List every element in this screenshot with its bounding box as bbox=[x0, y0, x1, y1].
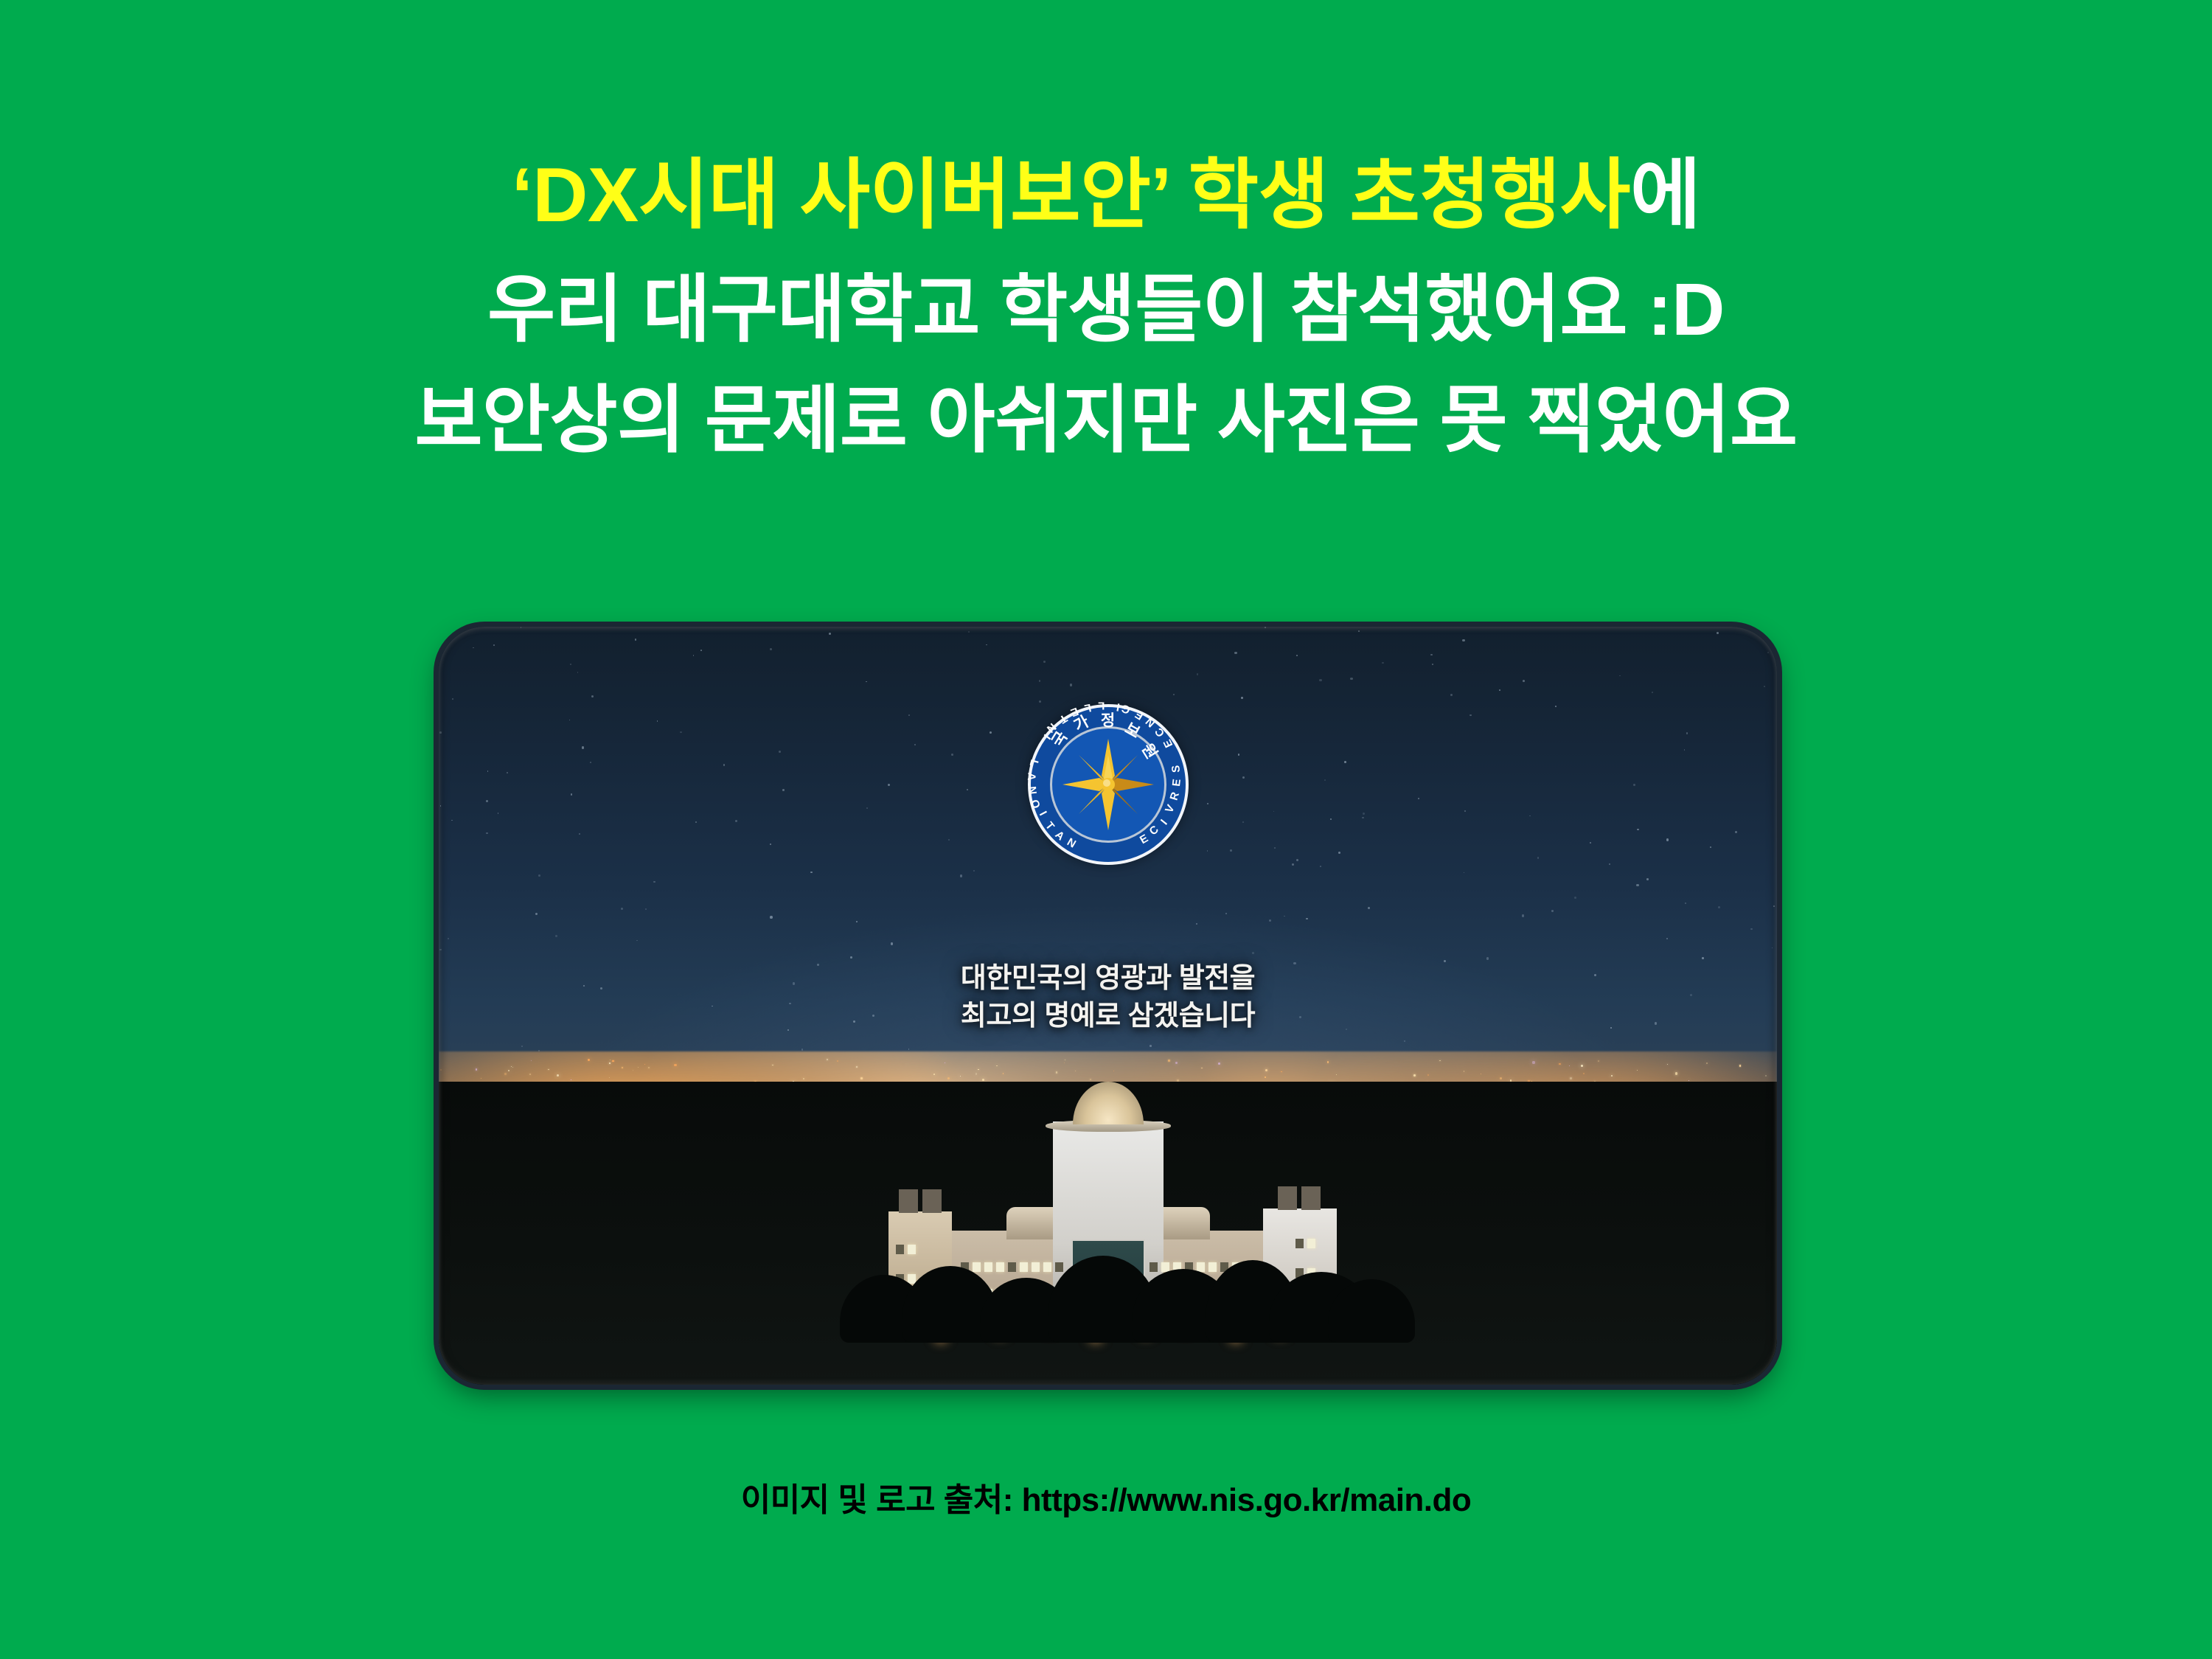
headline-line-1-accent: ‘DX시대 사이버보안’ 학생 초청행사 bbox=[512, 153, 1630, 238]
headline-block: ‘DX시대 사이버보안’ 학생 초청행사에 우리 대구대학교 학생들이 참석했어… bbox=[0, 146, 2212, 468]
headline-line-2: 우리 대구대학교 학생들이 참석했어요 :D bbox=[0, 262, 2212, 358]
headline-line-1-tail: 에 bbox=[1630, 153, 1700, 238]
source-caption: 이미지 및 로고 출처: https://www.nis.go.kr/main.… bbox=[0, 1473, 2212, 1520]
slogan-line-1: 대한민국의 영광과 발전을 bbox=[439, 960, 1777, 998]
nis-emblem: 국가정보원 NATIONAL INTELLIGENCE SERVICE bbox=[1028, 704, 1189, 865]
nis-night-photo: 국가정보원 NATIONAL INTELLIGENCE SERVICE 대한민국… bbox=[439, 627, 1777, 1385]
rooftop-unit-right-b bbox=[1278, 1186, 1297, 1210]
photo-card-wrapper: 국가정보원 NATIONAL INTELLIGENCE SERVICE 대한민국… bbox=[439, 627, 1777, 1385]
photo-card: 국가정보원 NATIONAL INTELLIGENCE SERVICE 대한민국… bbox=[439, 627, 1777, 1385]
emblem-english-text: NATIONAL INTELLIGENCE SERVICE bbox=[1028, 704, 1189, 865]
nis-slogan: 대한민국의 영광과 발전을 최고의 명예로 삼겠습니다 bbox=[439, 960, 1777, 1035]
headline-line-3: 보안상의 문제로 아쉬지만 사진은 못 찍었어요 bbox=[0, 372, 2212, 468]
headline-line-1: ‘DX시대 사이버보안’ 학생 초청행사에 bbox=[0, 146, 2212, 246]
rooftop-unit-left-b bbox=[922, 1189, 942, 1213]
rooftop-unit-left-a bbox=[899, 1189, 918, 1213]
rooftop-unit-right-a bbox=[1301, 1186, 1321, 1210]
nis-headquarters-building bbox=[850, 1092, 1366, 1343]
slogan-line-2: 최고의 명예로 삼겠습니다 bbox=[439, 998, 1777, 1035]
